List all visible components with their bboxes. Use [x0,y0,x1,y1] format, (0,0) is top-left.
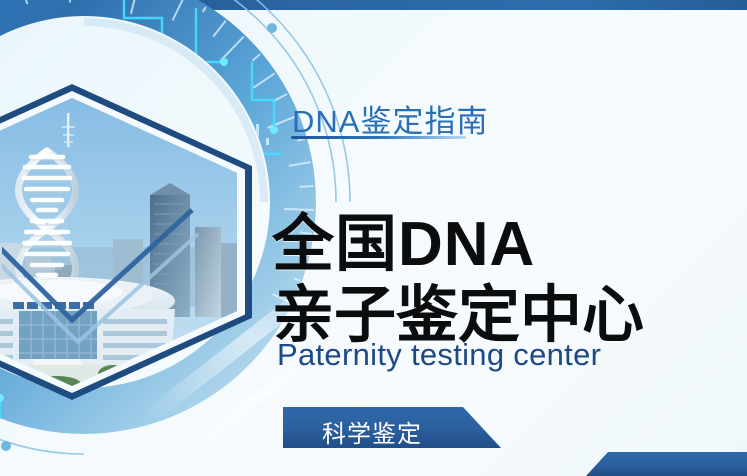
poster-canvas: DNA鉴定指南 全国DNA 亲子鉴定中心 Paternity testing c… [0,0,747,476]
english-subtitle: Paternity testing center [277,337,601,373]
dna-tower-cityscape-photo [0,98,237,386]
kicker-divider [291,136,466,139]
tag-banner-label: 科学鉴定 [322,414,422,449]
kicker-text: DNA鉴定指南 [292,96,488,141]
corner-accent-bar [586,452,747,476]
hexagon-photo-frame [0,84,252,400]
top-band [44,0,747,10]
page-title-line-1: 全国DNA [272,214,535,276]
